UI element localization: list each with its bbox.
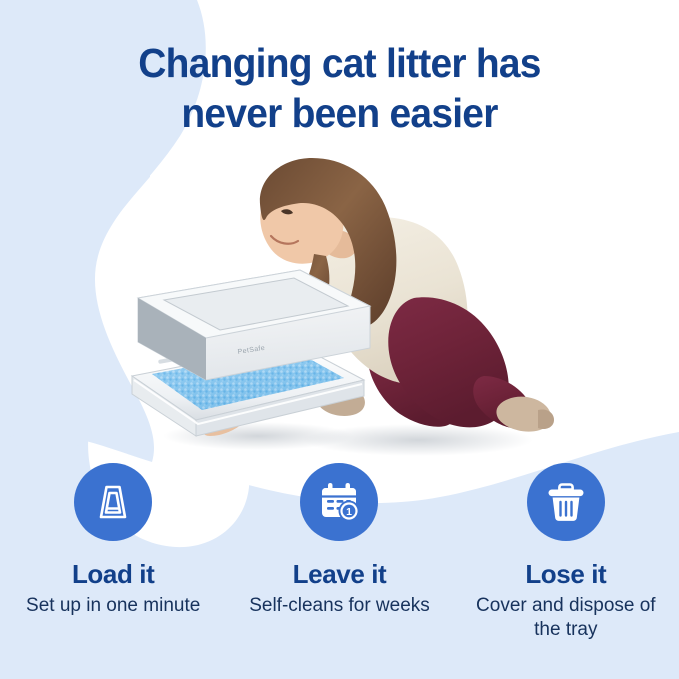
feature-item-leave: 1 Leave it Self-cleans for weeks — [226, 463, 452, 643]
promo-canvas: Changing cat litter has never been easie… — [0, 0, 679, 679]
headline-line-2: never been easier — [17, 88, 662, 138]
feature-description: Cover and dispose of the tray — [461, 594, 671, 643]
feature-item-load: Load it Set up in one minute — [0, 463, 226, 643]
feature-item-lose: Lose it Cover and dispose of the tray — [453, 463, 679, 643]
calendar-one-icon: 1 — [300, 463, 378, 541]
shoe-front-heel — [538, 409, 554, 429]
litter-box-icon — [74, 463, 152, 541]
feature-description: Set up in one minute — [26, 594, 200, 619]
svg-text:1: 1 — [347, 506, 353, 518]
feature-title: Lose it — [525, 560, 606, 589]
feature-title: Leave it — [293, 560, 387, 589]
feature-title: Load it — [72, 560, 154, 589]
feature-list: Load it Set up in one minute — [0, 463, 679, 643]
hero-photo: PetSafe — [118, 148, 568, 458]
feature-description: Self-cleans for weeks — [249, 594, 430, 619]
page-title: Changing cat litter has never been easie… — [17, 38, 662, 138]
headline-line-1: Changing cat litter has — [138, 40, 540, 86]
trash-can-icon — [527, 463, 605, 541]
